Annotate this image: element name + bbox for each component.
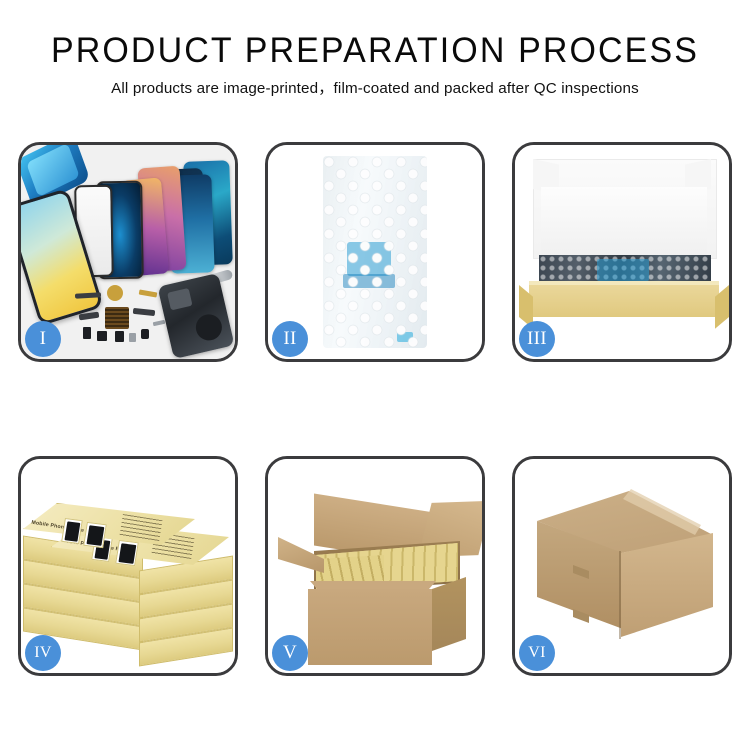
page-subtitle: All products are image-printed，film-coat… [0, 81, 750, 96]
carton-corner-seam [619, 551, 621, 639]
camera-module-part-icon [97, 331, 107, 341]
bracket-part-icon [129, 333, 136, 342]
page-header: PRODUCT PREPARATION PROCESS All products… [0, 0, 750, 96]
bubble-wrap-bag-icon [323, 156, 427, 348]
step-badge-2: II [272, 321, 308, 357]
vibrator-part-icon [115, 331, 124, 342]
step-badge-4: IV [25, 635, 61, 671]
volume-flex-part-icon [133, 308, 156, 316]
page-title: PRODUCT PREPARATION PROCESS [11, 33, 739, 68]
step-badge-1: I [25, 321, 61, 357]
speaker-part-icon [107, 285, 123, 301]
process-steps-grid: I II [0, 142, 750, 676]
step-badge-3: III [519, 321, 555, 357]
bubble-highlights [323, 156, 427, 348]
contents-blue-label [597, 259, 649, 281]
backlight-grid-part-icon [105, 307, 129, 329]
step-panel-5-carton-filling[interactable]: V [265, 456, 485, 676]
connector-part-icon [79, 312, 100, 321]
foam-liner-icon [541, 187, 707, 257]
button-flex-part-icon [139, 289, 158, 297]
process-row-bottom: Mobile Phone Spare Parts Mobile Phone Sp… [0, 456, 750, 676]
phone-back-housing-icon [157, 273, 234, 359]
process-row-top: I II [0, 142, 750, 362]
carton-front-panel-icon [308, 589, 432, 665]
retail-box-window-2b [115, 540, 139, 566]
retail-box-window-1a [61, 518, 83, 544]
step-panel-4-retail-box-stack[interactable]: Mobile Phone Spare Parts Mobile Phone Sp… [18, 456, 238, 676]
sim-tray-part-icon [141, 329, 149, 339]
ic-chip-part-icon [83, 327, 91, 339]
step-panel-2-bubble-wrap-packing[interactable]: II [265, 142, 485, 362]
inner-box-front-panel-icon [529, 285, 719, 317]
carton-side-panel-icon [432, 577, 466, 651]
step-badge-6: VI [519, 635, 555, 671]
step-panel-1-product-components[interactable]: I [18, 142, 238, 362]
screw-part-icon [153, 320, 166, 326]
step-badge-5: V [272, 635, 308, 671]
retail-box-window-1b [83, 522, 107, 548]
step-panel-3-inner-box-packing[interactable]: III [512, 142, 732, 362]
step-panel-6-sealed-carton[interactable]: VI [512, 456, 732, 676]
